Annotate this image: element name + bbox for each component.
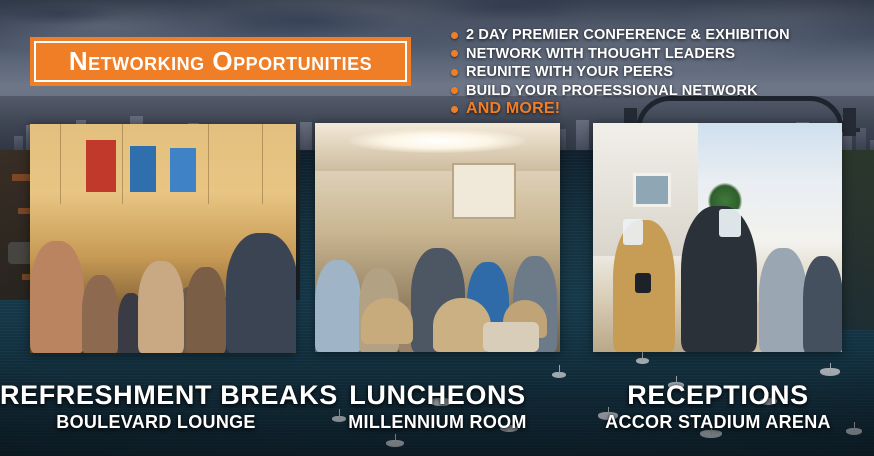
list-item: 2 DAY PREMIER CONFERENCE & EXHIBITION — [451, 26, 861, 45]
caption-refreshment-breaks: REFRESHMENT BREAKS BOULEVARD LOUNGE — [0, 381, 312, 433]
list-item: AND MORE! — [451, 100, 861, 119]
caption-title: LUNCHEONS — [315, 381, 560, 409]
caption-venue: MILLENNIUM ROOM — [315, 412, 560, 433]
feature-bullet-list: 2 DAY PREMIER CONFERENCE & EXHIBITION NE… — [451, 26, 861, 119]
page-title: Networking Opportunities — [30, 37, 411, 86]
title-border: Networking Opportunities — [34, 41, 407, 82]
bullet-dot-icon — [451, 32, 458, 39]
photo-people — [30, 202, 296, 353]
caption-venue: BOULEVARD LOUNGE — [0, 412, 312, 433]
bullet-dot-icon — [451, 87, 458, 94]
bullet-label: REUNITE WITH YOUR PEERS — [466, 64, 673, 80]
caption-luncheons: LUNCHEONS MILLENNIUM ROOM — [315, 381, 560, 433]
bullet-dot-icon — [451, 50, 458, 57]
photo-luncheons — [315, 123, 560, 352]
photo-refreshment-breaks — [30, 124, 296, 353]
caption-title: RECEPTIONS — [578, 381, 858, 409]
photo-receptions — [593, 123, 842, 352]
caption-title: REFRESHMENT BREAKS — [0, 381, 312, 409]
bullet-dot-icon — [451, 69, 458, 76]
bullet-label: BUILD YOUR PROFESSIONAL NETWORK — [466, 83, 758, 99]
bullet-label: 2 DAY PREMIER CONFERENCE & EXHIBITION — [466, 27, 790, 43]
list-item: BUILD YOUR PROFESSIONAL NETWORK — [451, 82, 861, 101]
bullet-label-highlight: AND MORE! — [466, 100, 560, 118]
list-item: REUNITE WITH YOUR PEERS — [451, 63, 861, 82]
list-item: NETWORK WITH THOUGHT LEADERS — [451, 45, 861, 64]
bullet-dot-icon — [451, 106, 458, 113]
title-text: Networking Opportunities — [69, 48, 372, 74]
networking-opportunities-slide: Networking Opportunities 2 DAY PREMIER C… — [0, 0, 874, 456]
bullet-label: NETWORK WITH THOUGHT LEADERS — [466, 46, 735, 62]
caption-receptions: RECEPTIONS ACCOR STADIUM ARENA — [578, 381, 858, 433]
ceiling-lighting — [315, 123, 560, 171]
caption-venue: ACCOR STADIUM ARENA — [578, 412, 858, 433]
